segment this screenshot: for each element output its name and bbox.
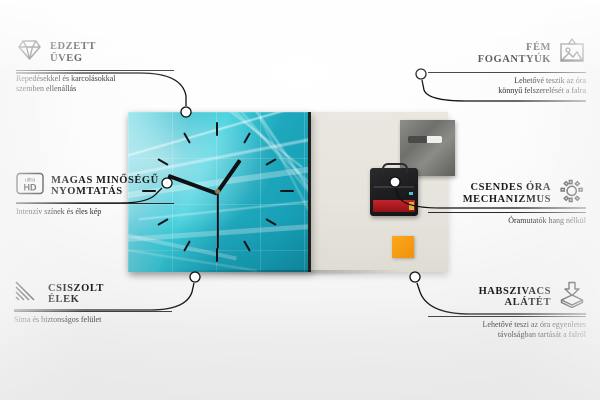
feature-title: HABSZIVACS ALÁTÉT bbox=[479, 286, 551, 309]
feature-description: Óramutatók hang nélkül bbox=[428, 216, 586, 226]
feature-description: Lehetővé teszi az óra egyenletes távolsá… bbox=[428, 320, 586, 339]
divider bbox=[428, 316, 586, 317]
feature-habszivacs-alatet[interactable]: HABSZIVACS ALÁTÉT Lehetővé teszi az óra … bbox=[428, 281, 586, 339]
feature-csiszolt-elek[interactable]: CSISZOLT ÉLEK Sima és biztonságos felüle… bbox=[14, 280, 172, 325]
divider bbox=[14, 311, 172, 312]
feature-edzett-uveg[interactable]: EDZETT ÜVEG Repedésekkel és karcolásokka… bbox=[16, 38, 174, 93]
divider bbox=[428, 72, 586, 73]
product-shadow bbox=[132, 270, 448, 284]
mechanism-loop bbox=[382, 163, 408, 173]
clock-mechanism bbox=[370, 168, 418, 216]
hour-marker bbox=[280, 190, 294, 192]
foam-pad-icon bbox=[558, 281, 586, 313]
mechanism-seam bbox=[374, 186, 414, 188]
divider bbox=[428, 212, 586, 213]
polished-edge-icon bbox=[14, 280, 41, 308]
feature-title: MAGAS MINŐSÉGŰ NYOMTATÁS bbox=[51, 175, 159, 198]
divider bbox=[16, 70, 174, 71]
feature-title: FÉM FOGANTYÚK bbox=[478, 42, 551, 65]
picture-hanger-icon bbox=[558, 38, 586, 69]
gear-icon bbox=[558, 178, 586, 209]
feature-fem-fogantyuk[interactable]: FÉM FOGANTYÚK Lehetővé teszik az óra kön… bbox=[428, 38, 586, 95]
diamond-icon bbox=[16, 38, 43, 67]
ultra-hd-icon: ultra HD bbox=[16, 172, 44, 200]
feature-description: Repedésekkel és karcolásokkal szemben el… bbox=[16, 74, 174, 93]
hanger-slot bbox=[408, 136, 442, 143]
infographic-canvas: EDZETT ÜVEG Repedésekkel és karcolásokka… bbox=[0, 0, 600, 400]
battery-terminal bbox=[409, 202, 414, 210]
hour-marker bbox=[216, 248, 218, 262]
hour-marker bbox=[216, 122, 218, 136]
feature-description: Intenzív színek és éles kép bbox=[16, 207, 174, 217]
feature-title: EDZETT ÜVEG bbox=[50, 41, 96, 64]
feature-description: Lehetővé teszik az óra könnyű felszerelé… bbox=[428, 76, 586, 95]
divider bbox=[16, 203, 174, 204]
clock-hub bbox=[215, 189, 220, 194]
foam-pad bbox=[392, 236, 414, 258]
feature-description: Sima és biztonságos felület bbox=[14, 315, 172, 325]
svg-text:HD: HD bbox=[24, 183, 37, 193]
mechanism-label bbox=[409, 192, 413, 195]
feature-csendes-ora-mechanizmus[interactable]: CSENDES ÓRA MECHANIZMUS bbox=[428, 178, 586, 226]
feature-title: CSISZOLT ÉLEK bbox=[48, 283, 104, 306]
feature-magas-minosegu-nyomtatas[interactable]: ultra HD MAGAS MINŐSÉGŰ NYOMTATÁS Intenz… bbox=[16, 172, 174, 217]
second-hand bbox=[217, 193, 219, 249]
feature-title: CSENDES ÓRA MECHANIZMUS bbox=[463, 182, 551, 205]
product-image bbox=[128, 112, 448, 272]
